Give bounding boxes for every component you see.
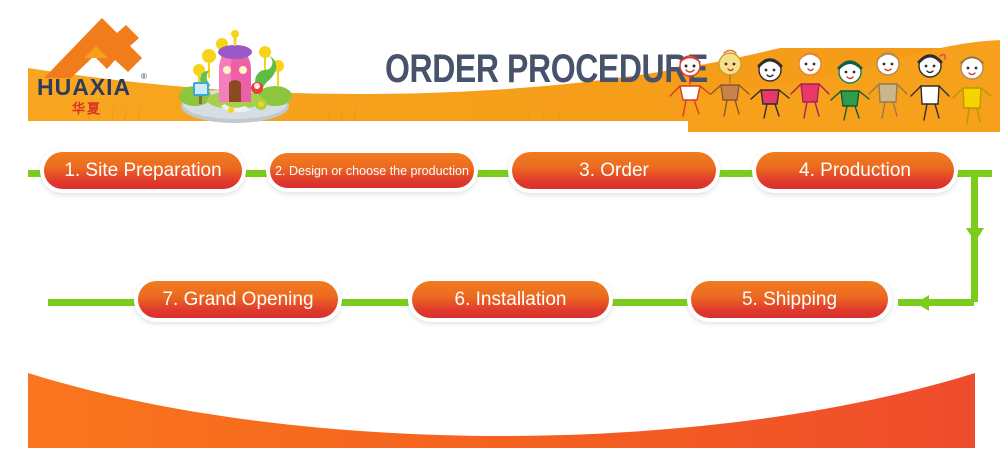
step-label-5: 5. Shipping (732, 289, 847, 311)
step-box-4[interactable]: 4. Production (756, 152, 954, 189)
step-label-3: 3. Order (569, 160, 659, 182)
step-box-6[interactable]: 6. Installation (412, 281, 609, 318)
connector-step6-to-step7 (338, 299, 412, 306)
step-label-1: 1. Site Preparation (54, 160, 231, 182)
step-label-6: 6. Installation (445, 289, 577, 311)
step-box-3[interactable]: 3. Order (512, 152, 716, 189)
connector-step7-end (48, 299, 138, 306)
step-label-7: 7. Grand Opening (152, 289, 323, 311)
step-box-1[interactable]: 1. Site Preparation (44, 152, 242, 189)
connector-step2-to-step3 (474, 170, 512, 177)
footer-wave-decoration (28, 368, 975, 448)
step-label-2: 2. Design or choose the production (265, 164, 479, 178)
arrow-down-icon (966, 228, 984, 242)
step-box-2[interactable]: 2. Design or choose the production (270, 153, 474, 188)
connector-step3-to-step4 (716, 170, 756, 177)
step-box-5[interactable]: 5. Shipping (691, 281, 888, 318)
connector-down-to-step5 (898, 299, 974, 306)
step-box-7[interactable]: 7. Grand Opening (138, 281, 338, 318)
connector-step5-to-step6 (609, 299, 691, 306)
arrow-left-icon (916, 295, 929, 311)
step-label-4: 4. Production (789, 160, 921, 182)
